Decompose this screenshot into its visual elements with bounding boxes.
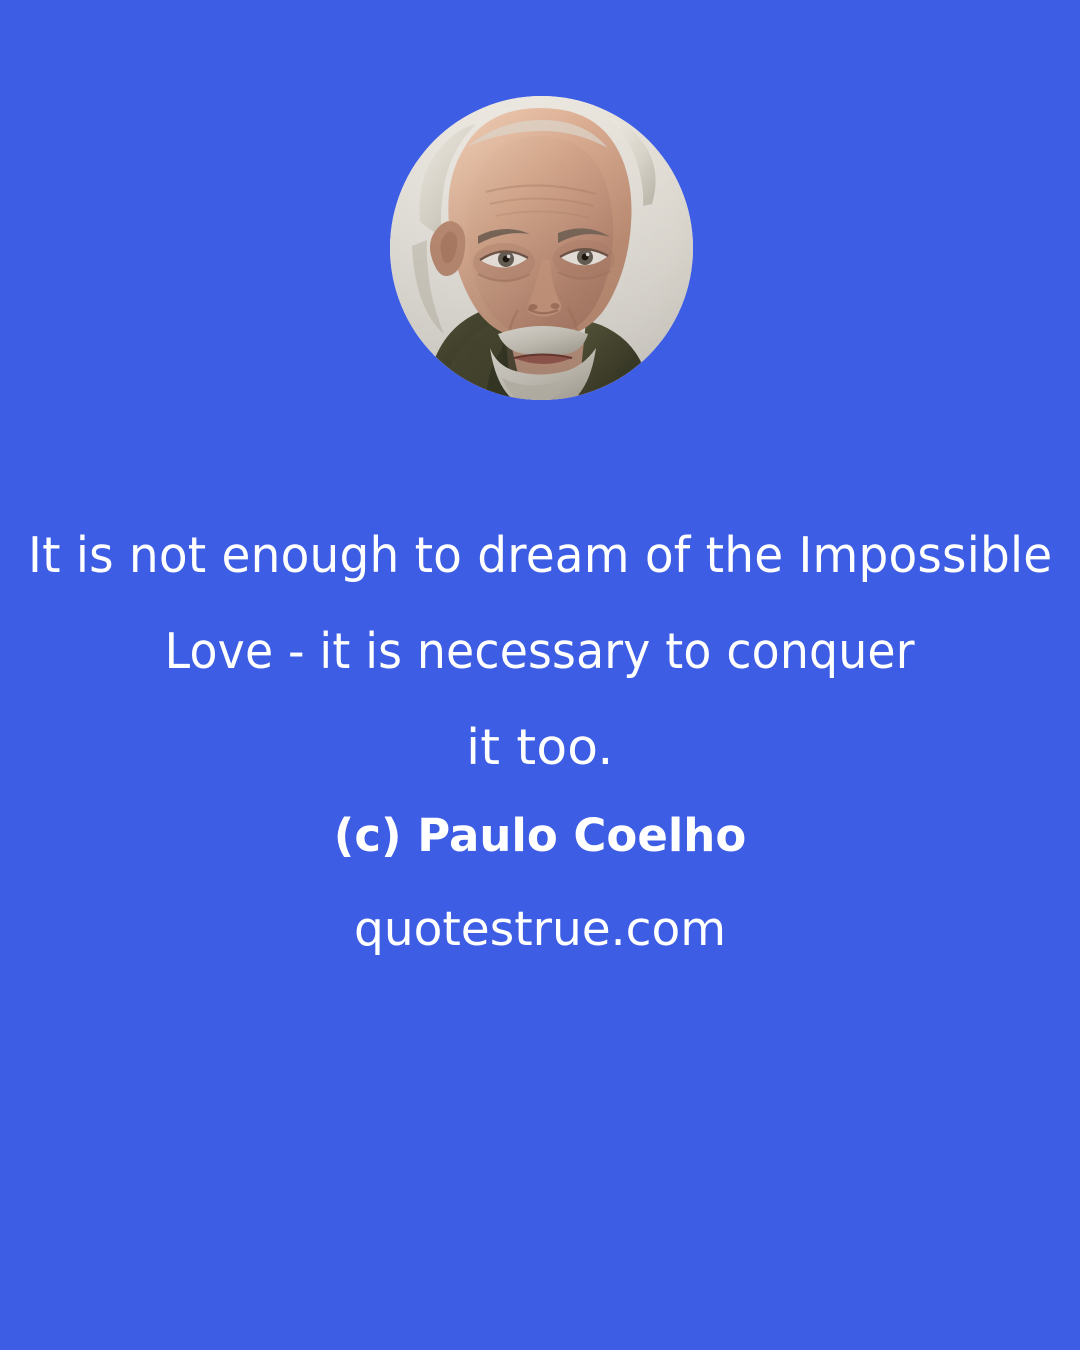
quote-source-site: quotestrue.com xyxy=(0,900,1080,960)
quote-line-1: It is not enough to dream of the Impossi… xyxy=(0,508,1080,604)
portrait-illustration xyxy=(390,96,693,400)
quote-line-3: it too. xyxy=(0,700,1080,796)
quote-text: It is not enough to dream of the Impossi… xyxy=(0,508,1080,796)
quote-card: It is not enough to dream of the Impossi… xyxy=(0,0,1080,1350)
avatar xyxy=(390,96,693,400)
quote-line-2: Love - it is necessary to conquer xyxy=(0,604,1080,700)
quote-author: (c) Paulo Coelho xyxy=(0,806,1080,866)
